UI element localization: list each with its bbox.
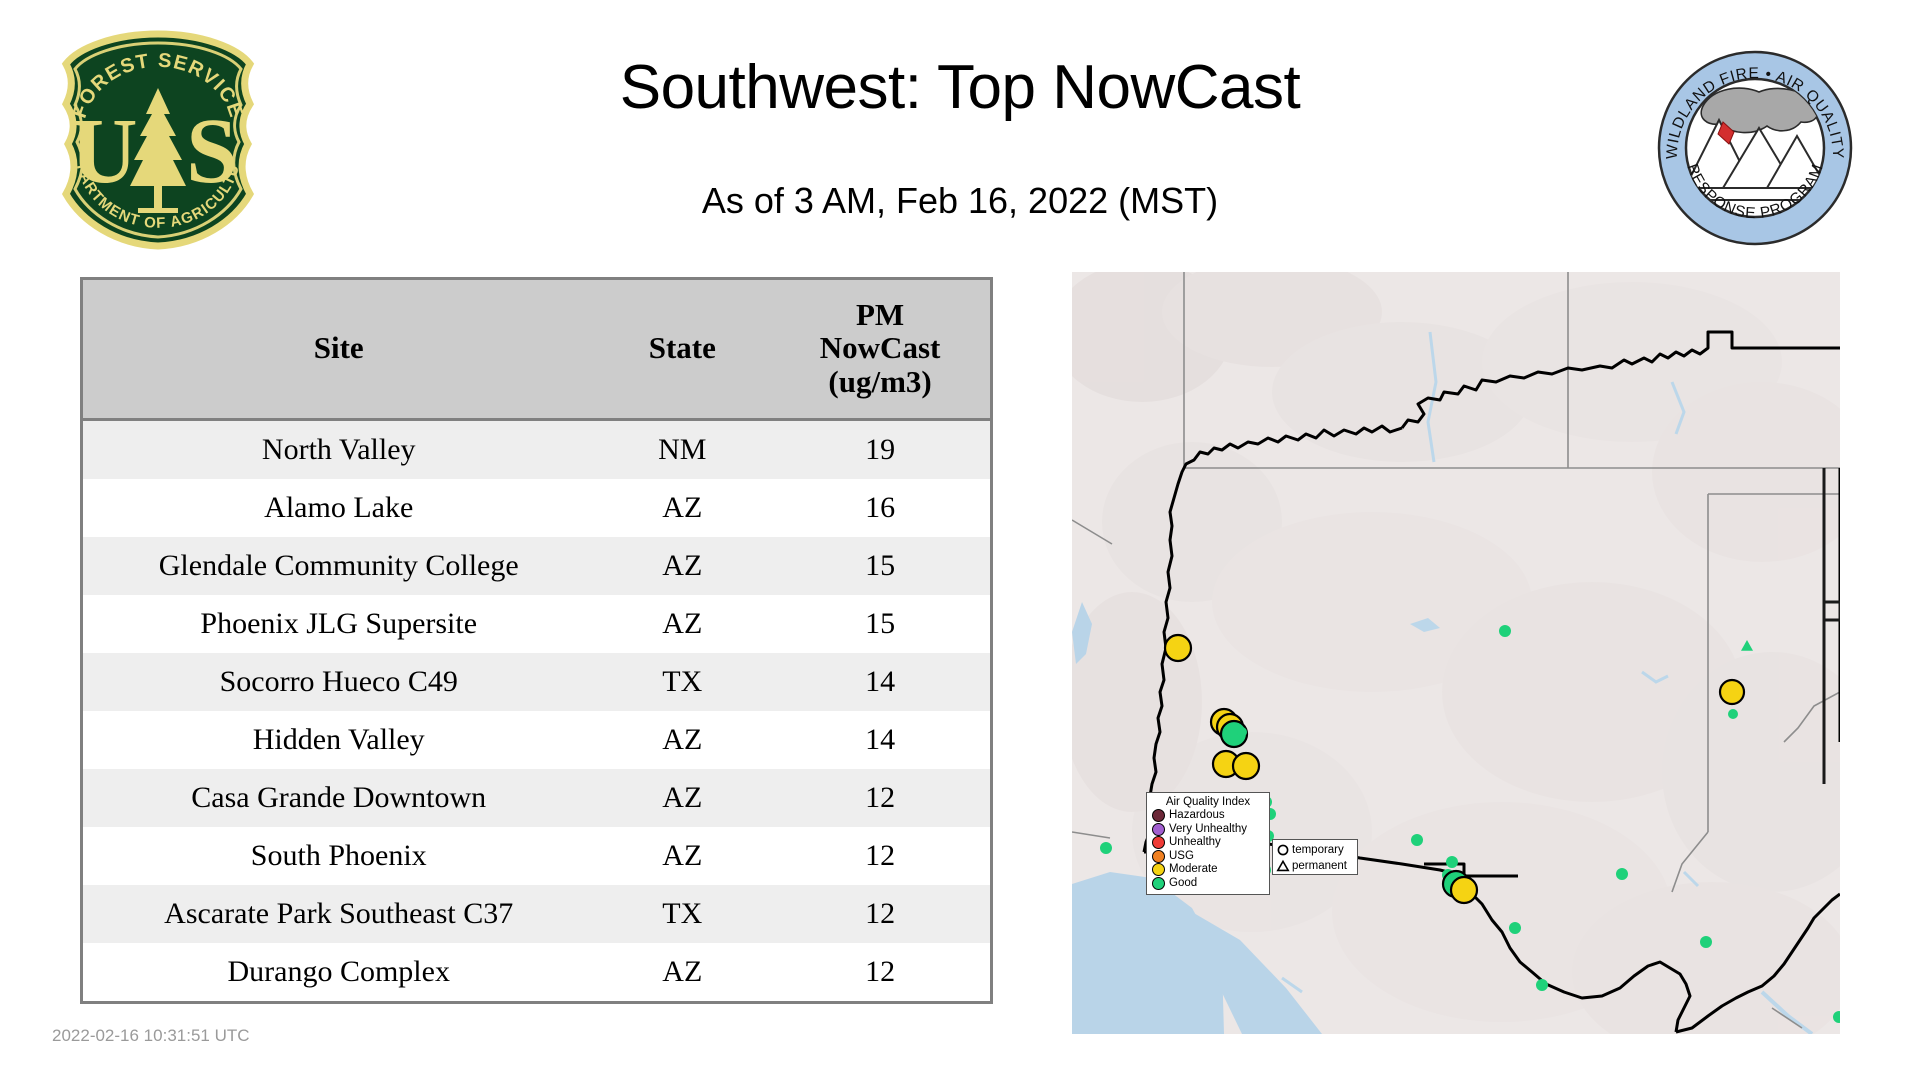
monitor-marker-moderate[interactable]: [1451, 877, 1477, 903]
table-row: Alamo LakeAZ16: [83, 479, 990, 537]
monitor-marker-good[interactable]: [1536, 979, 1548, 991]
aqi-swatch-good: [1152, 877, 1165, 890]
monitor-marker-good[interactable]: [1446, 856, 1458, 868]
table-row: North ValleyNM19: [83, 420, 990, 480]
cell-site: Socorro Hueco C49: [83, 653, 594, 711]
legend-row-permanent: permanent: [1276, 858, 1354, 874]
column-header-pm-line3: (ug/m3): [774, 365, 986, 398]
aqi-swatch-very-unhealthy: [1152, 823, 1165, 836]
aqi-legend-label: Good: [1169, 877, 1197, 891]
table-head: Site State PM NowCast (ug/m3): [83, 280, 990, 420]
cell-pm-nowcast: 12: [770, 827, 990, 885]
column-header-site: Site: [83, 280, 594, 420]
cell-state: AZ: [594, 711, 770, 769]
cell-state: AZ: [594, 827, 770, 885]
aqi-swatch-unhealthy: [1152, 836, 1165, 849]
monitor-type-legend: temporary permanent: [1272, 839, 1358, 875]
nowcast-table: Site State PM NowCast (ug/m3) North Vall…: [83, 280, 990, 1001]
page-title: Southwest: Top NowCast: [260, 52, 1660, 123]
cell-site: Phoenix JLG Supersite: [83, 595, 594, 653]
aqi-legend-label: Moderate: [1169, 863, 1218, 877]
cell-site: South Phoenix: [83, 827, 594, 885]
legend-label-temporary: temporary: [1292, 843, 1344, 857]
cell-pm-nowcast: 16: [770, 479, 990, 537]
cell-site: North Valley: [83, 420, 594, 480]
cell-state: AZ: [594, 769, 770, 827]
cell-site: Alamo Lake: [83, 479, 594, 537]
aqi-legend-item: Hazardous: [1152, 809, 1264, 823]
table-body: North ValleyNM19Alamo LakeAZ16Glendale C…: [83, 420, 990, 1002]
aqi-legend-label: Hazardous: [1169, 809, 1225, 823]
cell-site: Casa Grande Downtown: [83, 769, 594, 827]
aqi-legend-label: Very Unhealthy: [1169, 823, 1247, 837]
cell-pm-nowcast: 14: [770, 653, 990, 711]
column-header-pm-nowcast: PM NowCast (ug/m3): [770, 280, 990, 420]
aqi-legend-rows: HazardousVery UnhealthyUnhealthyUSGModer…: [1152, 809, 1264, 890]
monitor-marker-good[interactable]: [1237, 727, 1247, 737]
aqi-legend-title: Air Quality Index: [1152, 796, 1264, 808]
table-row: Durango ComplexAZ12: [83, 943, 990, 1001]
table-row: Socorro Hueco C49TX14: [83, 653, 990, 711]
cell-pm-nowcast: 19: [770, 420, 990, 480]
monitor-marker-moderate[interactable]: [1165, 635, 1191, 661]
cell-state: TX: [594, 653, 770, 711]
cell-state: AZ: [594, 479, 770, 537]
cell-pm-nowcast: 14: [770, 711, 990, 769]
aqi-legend: Air Quality Index HazardousVery Unhealth…: [1146, 792, 1270, 895]
aqi-legend-item: Moderate: [1152, 863, 1264, 877]
wfaqrp-logo: WILDLAND FIRE • AIR QUALITY RESPONSE PRO…: [1655, 48, 1855, 248]
legend-label-permanent: permanent: [1292, 859, 1347, 873]
cell-state: TX: [594, 885, 770, 943]
monitor-marker-good[interactable]: [1499, 625, 1511, 637]
monitor-marker-good[interactable]: [1616, 868, 1628, 880]
monitor-marker-moderate[interactable]: [1233, 753, 1259, 779]
page-subtitle: As of 3 AM, Feb 16, 2022 (MST): [260, 180, 1660, 222]
table-row: Ascarate Park Southeast C37TX12: [83, 885, 990, 943]
table-row: Hidden ValleyAZ14: [83, 711, 990, 769]
column-header-pm-line1: PM: [774, 298, 986, 331]
table-row: South PhoenixAZ12: [83, 827, 990, 885]
aqi-swatch-hazardous: [1152, 809, 1165, 822]
aqi-swatch-usg: [1152, 850, 1165, 863]
cell-site: Glendale Community College: [83, 537, 594, 595]
column-header-pm-line2: NowCast: [774, 331, 986, 364]
triangle-icon: [1276, 859, 1290, 873]
nowcast-table-container: Site State PM NowCast (ug/m3) North Vall…: [80, 277, 993, 1004]
us-forest-service-logo: FOREST SERVICE U S DEPARTMENT OF AGRICUL…: [52, 30, 264, 250]
aqi-legend-item: Very Unhealthy: [1152, 823, 1264, 837]
cell-state: AZ: [594, 595, 770, 653]
cell-state: AZ: [594, 537, 770, 595]
table-header-row: Site State PM NowCast (ug/m3): [83, 280, 990, 420]
cell-pm-nowcast: 12: [770, 769, 990, 827]
table-row: Glendale Community CollegeAZ15: [83, 537, 990, 595]
cell-state: AZ: [594, 943, 770, 1001]
cell-pm-nowcast: 12: [770, 885, 990, 943]
monitor-marker-good[interactable]: [1411, 834, 1423, 846]
table-row: Casa Grande DowntownAZ12: [83, 769, 990, 827]
cell-pm-nowcast: 15: [770, 537, 990, 595]
cell-site: Hidden Valley: [83, 711, 594, 769]
table-row: Phoenix JLG SupersiteAZ15: [83, 595, 990, 653]
aqi-legend-label: Unhealthy: [1169, 836, 1221, 850]
cell-site: Durango Complex: [83, 943, 594, 1001]
aqi-swatch-moderate: [1152, 863, 1165, 876]
cell-state: NM: [594, 420, 770, 480]
aqi-legend-item: Unhealthy: [1152, 836, 1264, 850]
footer-timestamp: 2022-02-16 10:31:51 UTC: [52, 1026, 250, 1046]
cell-pm-nowcast: 12: [770, 943, 990, 1001]
cell-site: Ascarate Park Southeast C37: [83, 885, 594, 943]
monitor-marker-good[interactable]: [1700, 936, 1712, 948]
aqi-legend-item: Good: [1152, 877, 1264, 891]
aqi-legend-item: USG: [1152, 850, 1264, 864]
legend-row-temporary: temporary: [1276, 842, 1354, 858]
circle-icon: [1276, 843, 1290, 857]
cell-pm-nowcast: 15: [770, 595, 990, 653]
monitor-marker-good[interactable]: [1509, 922, 1521, 934]
monitor-marker-good[interactable]: [1100, 842, 1112, 854]
column-header-state: State: [594, 280, 770, 420]
air-quality-map[interactable]: Air Quality Index HazardousVery Unhealth…: [1072, 272, 1840, 1034]
monitor-marker-moderate[interactable]: [1720, 680, 1744, 704]
aqi-legend-label: USG: [1169, 850, 1194, 864]
monitor-marker-good[interactable]: [1728, 709, 1738, 719]
